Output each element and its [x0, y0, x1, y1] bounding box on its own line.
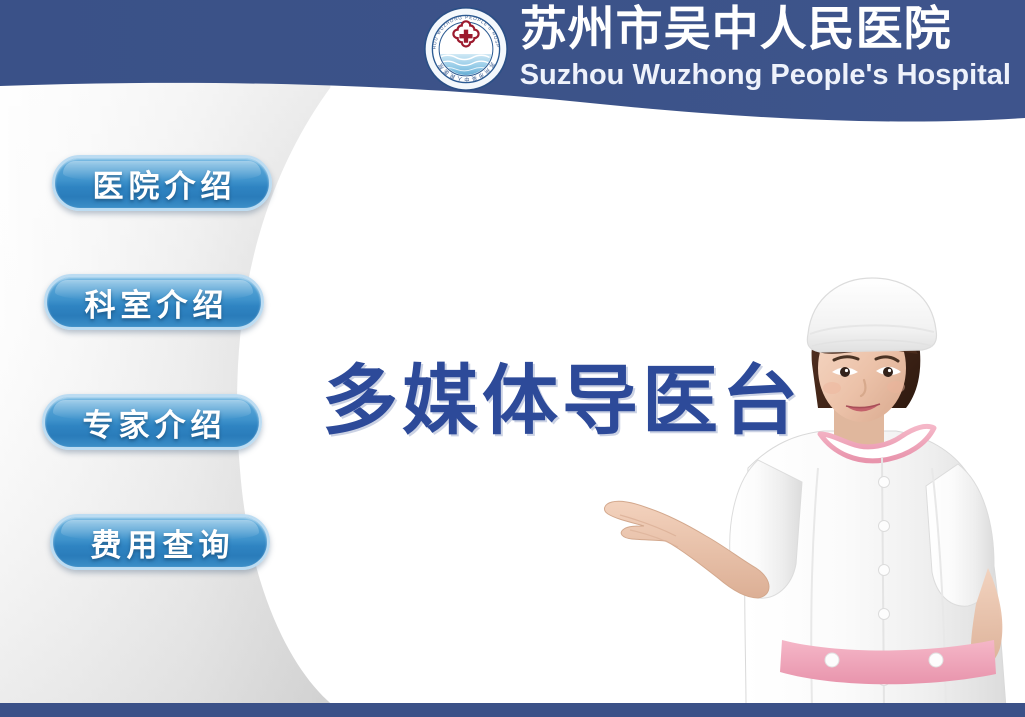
hospital-name-cn: 苏州市吴中人民医院	[520, 4, 952, 56]
sidebar-item-label: 专家介绍	[78, 400, 227, 445]
page-title: 多媒体导医台	[322, 358, 802, 444]
hospital-emblem-logo: SUZHOU WUZHONG PEOPLE'S HOSPITAL 苏州市吴中人民…	[424, 7, 508, 91]
sidebar-item-label: 科室介绍	[80, 280, 229, 325]
header-titles: 苏州市吴中人民医院 Suzhou Wuzhong People's Hospit…	[520, 4, 1011, 92]
sidebar-item-label: 医院介绍	[88, 161, 237, 206]
sidebar-item-fee-query[interactable]: 费用查询	[50, 514, 270, 570]
nurse-greeting-photo	[596, 268, 1025, 708]
nurse-cap-icon	[807, 278, 936, 352]
sidebar-item-department-intro[interactable]: 科室介绍	[44, 274, 264, 330]
header-content: SUZHOU WUZHONG PEOPLE'S HOSPITAL 苏州市吴中人民…	[424, 4, 1011, 92]
sidebar-item-expert-intro[interactable]: 专家介绍	[42, 394, 262, 450]
sidebar-item-hospital-intro[interactable]: 医院介绍	[52, 155, 272, 211]
kiosk-screen: SUZHOU WUZHONG PEOPLE'S HOSPITAL 苏州市吴中人民…	[0, 0, 1025, 717]
footer-bar	[0, 703, 1025, 717]
sidebar-item-label: 费用查询	[86, 520, 235, 565]
sidebar-menu: 医院介绍 科室介绍 专家介绍 费用查询	[0, 0, 320, 717]
hospital-name-en: Suzhou Wuzhong People's Hospital	[520, 58, 1011, 92]
